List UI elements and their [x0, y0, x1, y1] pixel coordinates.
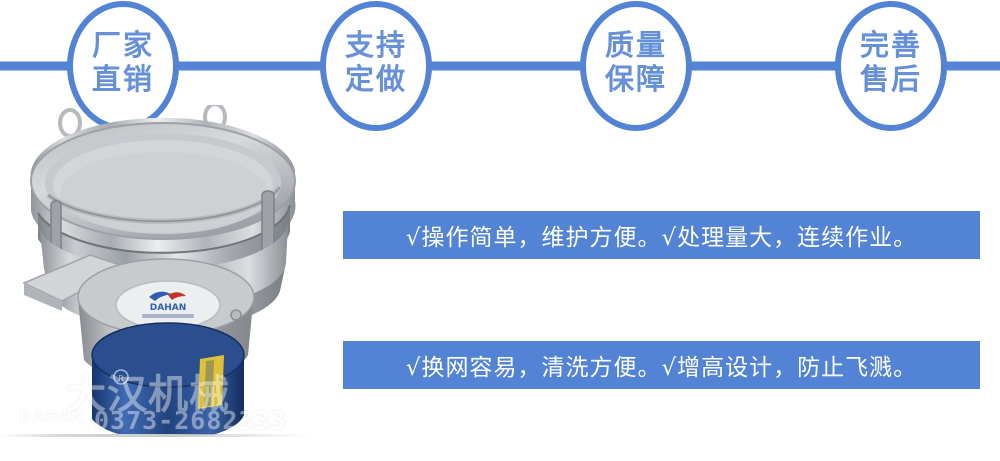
product-reflection-line: [0, 434, 310, 437]
promo-banner-page: 厂家 直销 支持 定做 质量 保障 完善 售后: [0, 0, 1000, 461]
sieve-clamp-latch-right: [262, 191, 274, 253]
badge-ellipse-4: [838, 4, 944, 128]
badge-ellipse-3: [583, 4, 689, 128]
svg-text:DAHAN: DAHAN: [150, 303, 186, 313]
feature-banner-1: √操作简单，维护方便。√处理量大，连续作业。: [343, 211, 980, 259]
product-brand-plate: DAHAN: [116, 281, 220, 329]
product-photo-vibrating-sieve: DAHAN R: [18, 105, 308, 435]
feature-banner-1-text: √操作简单，维护方便。√处理量大，连续作业。: [406, 218, 917, 252]
badge-ellipse-2: [323, 4, 429, 128]
svg-text:R: R: [118, 374, 124, 383]
motor-base-blue: R: [92, 323, 244, 435]
feature-banner-2: √换网容易，清洗方便。√增高设计，防止飞溅。: [343, 341, 980, 389]
feature-banner-2-text: √换网容易，清洗方便。√增高设计，防止飞溅。: [406, 348, 917, 382]
motor-bolt: [231, 310, 241, 320]
